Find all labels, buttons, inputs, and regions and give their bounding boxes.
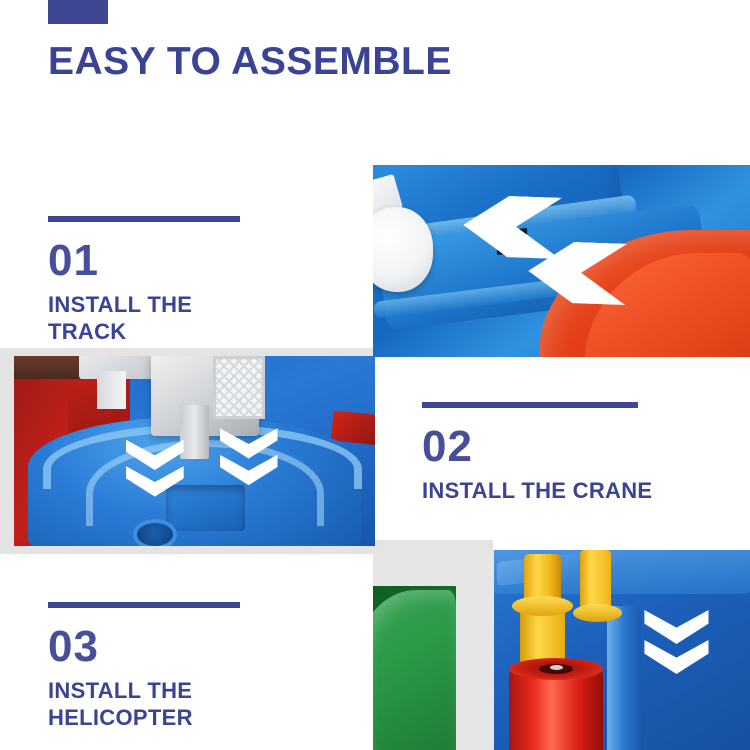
step-rule [48,216,240,222]
helicopter-blue-rail [607,606,641,750]
crane-track-ramp [166,485,245,531]
step-rule [48,602,240,608]
crane-arm [180,405,209,458]
photo-install-track [373,165,750,357]
photo-track-inner [373,165,750,357]
accent-bar [48,0,108,24]
photo-crane-inner [14,356,375,546]
photo-install-crane [14,356,375,546]
track-white-knob [373,207,433,291]
step-number: 02 [422,424,662,470]
crane-peg-hole [133,519,177,546]
helicopter-yellow-peg-left-collar [512,596,572,616]
step-number: 03 [48,624,276,670]
step-block-02: 02 INSTALL THE CRANE [422,402,662,504]
step-label: INSTALL THE CRANE [422,477,662,504]
crane-hook [97,371,126,409]
step-label: INSTALL THE TRACK [48,291,276,345]
step-number: 01 [48,238,276,284]
step-block-03: 03 INSTALL THE HELICOPTER [48,602,276,731]
helicopter-yellow-peg-right-collar [573,604,622,622]
page-title: EASY TO ASSEMBLE [48,38,452,86]
step-block-01: 01 INSTALL THE TRACK [48,216,276,345]
step-rule [422,402,638,408]
crane-lattice-tower [213,356,266,419]
photo-install-helicopter [373,550,750,750]
photo-helicopter-inner [373,550,750,750]
helicopter-green-wing [373,590,456,750]
step-label: INSTALL THE HELICOPTER [48,677,276,731]
assembly-instructions-page: EASY TO ASSEMBLE 01 INSTALL THE TRACK [0,0,750,750]
